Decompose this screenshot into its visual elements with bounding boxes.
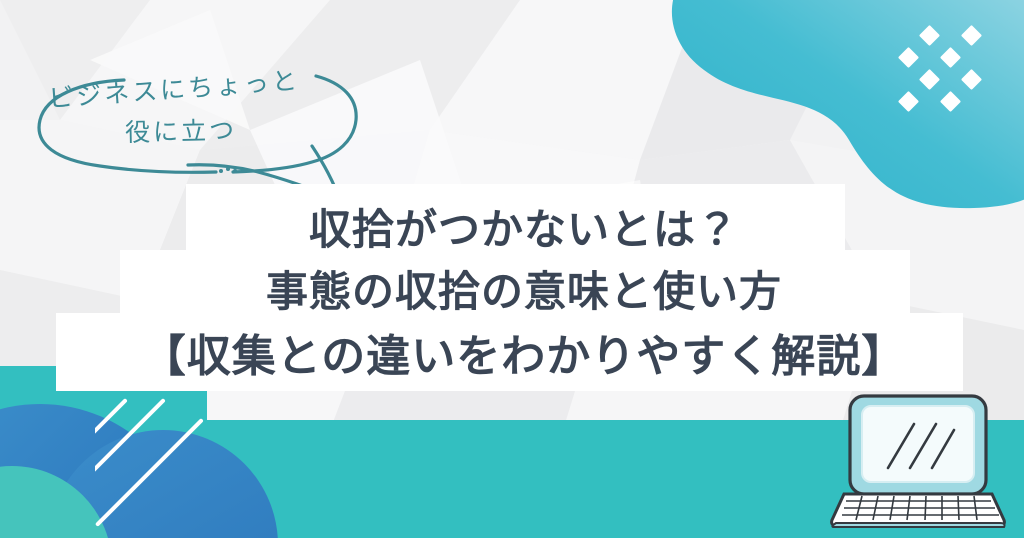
title-line-2: 事態の収拾の意味と使い方 — [12, 258, 1024, 319]
diamond-icon — [919, 25, 940, 46]
laptop-base — [832, 494, 1005, 526]
diamond-dot-pattern — [898, 28, 998, 112]
diamond-icon — [961, 25, 982, 46]
diamond-icon — [940, 91, 961, 112]
banner-canvas: ビジネスにちょっと 役に立つ 収拾がつかないとは？ 事態の収拾の意味と使い方 【… — [0, 0, 1024, 538]
diamond-icon — [940, 47, 961, 68]
diagonal-stripe — [95, 418, 204, 527]
laptop-front-lip — [832, 523, 1004, 527]
diamond-icon — [898, 91, 919, 112]
laptop-screen — [862, 406, 974, 482]
diamond-icon — [898, 47, 919, 68]
laptop-illustration — [828, 392, 1008, 532]
diagonal-stripes-group — [95, 398, 295, 538]
title-line-1: 収拾がつかないとは？ — [12, 196, 1024, 257]
diamond-icon — [919, 69, 940, 90]
catchcopy-line-2: 役に立つ — [125, 111, 238, 149]
title-line-3: 【収集との違いをわかりやすく解説】 — [12, 320, 1024, 384]
diamond-icon — [961, 69, 982, 90]
